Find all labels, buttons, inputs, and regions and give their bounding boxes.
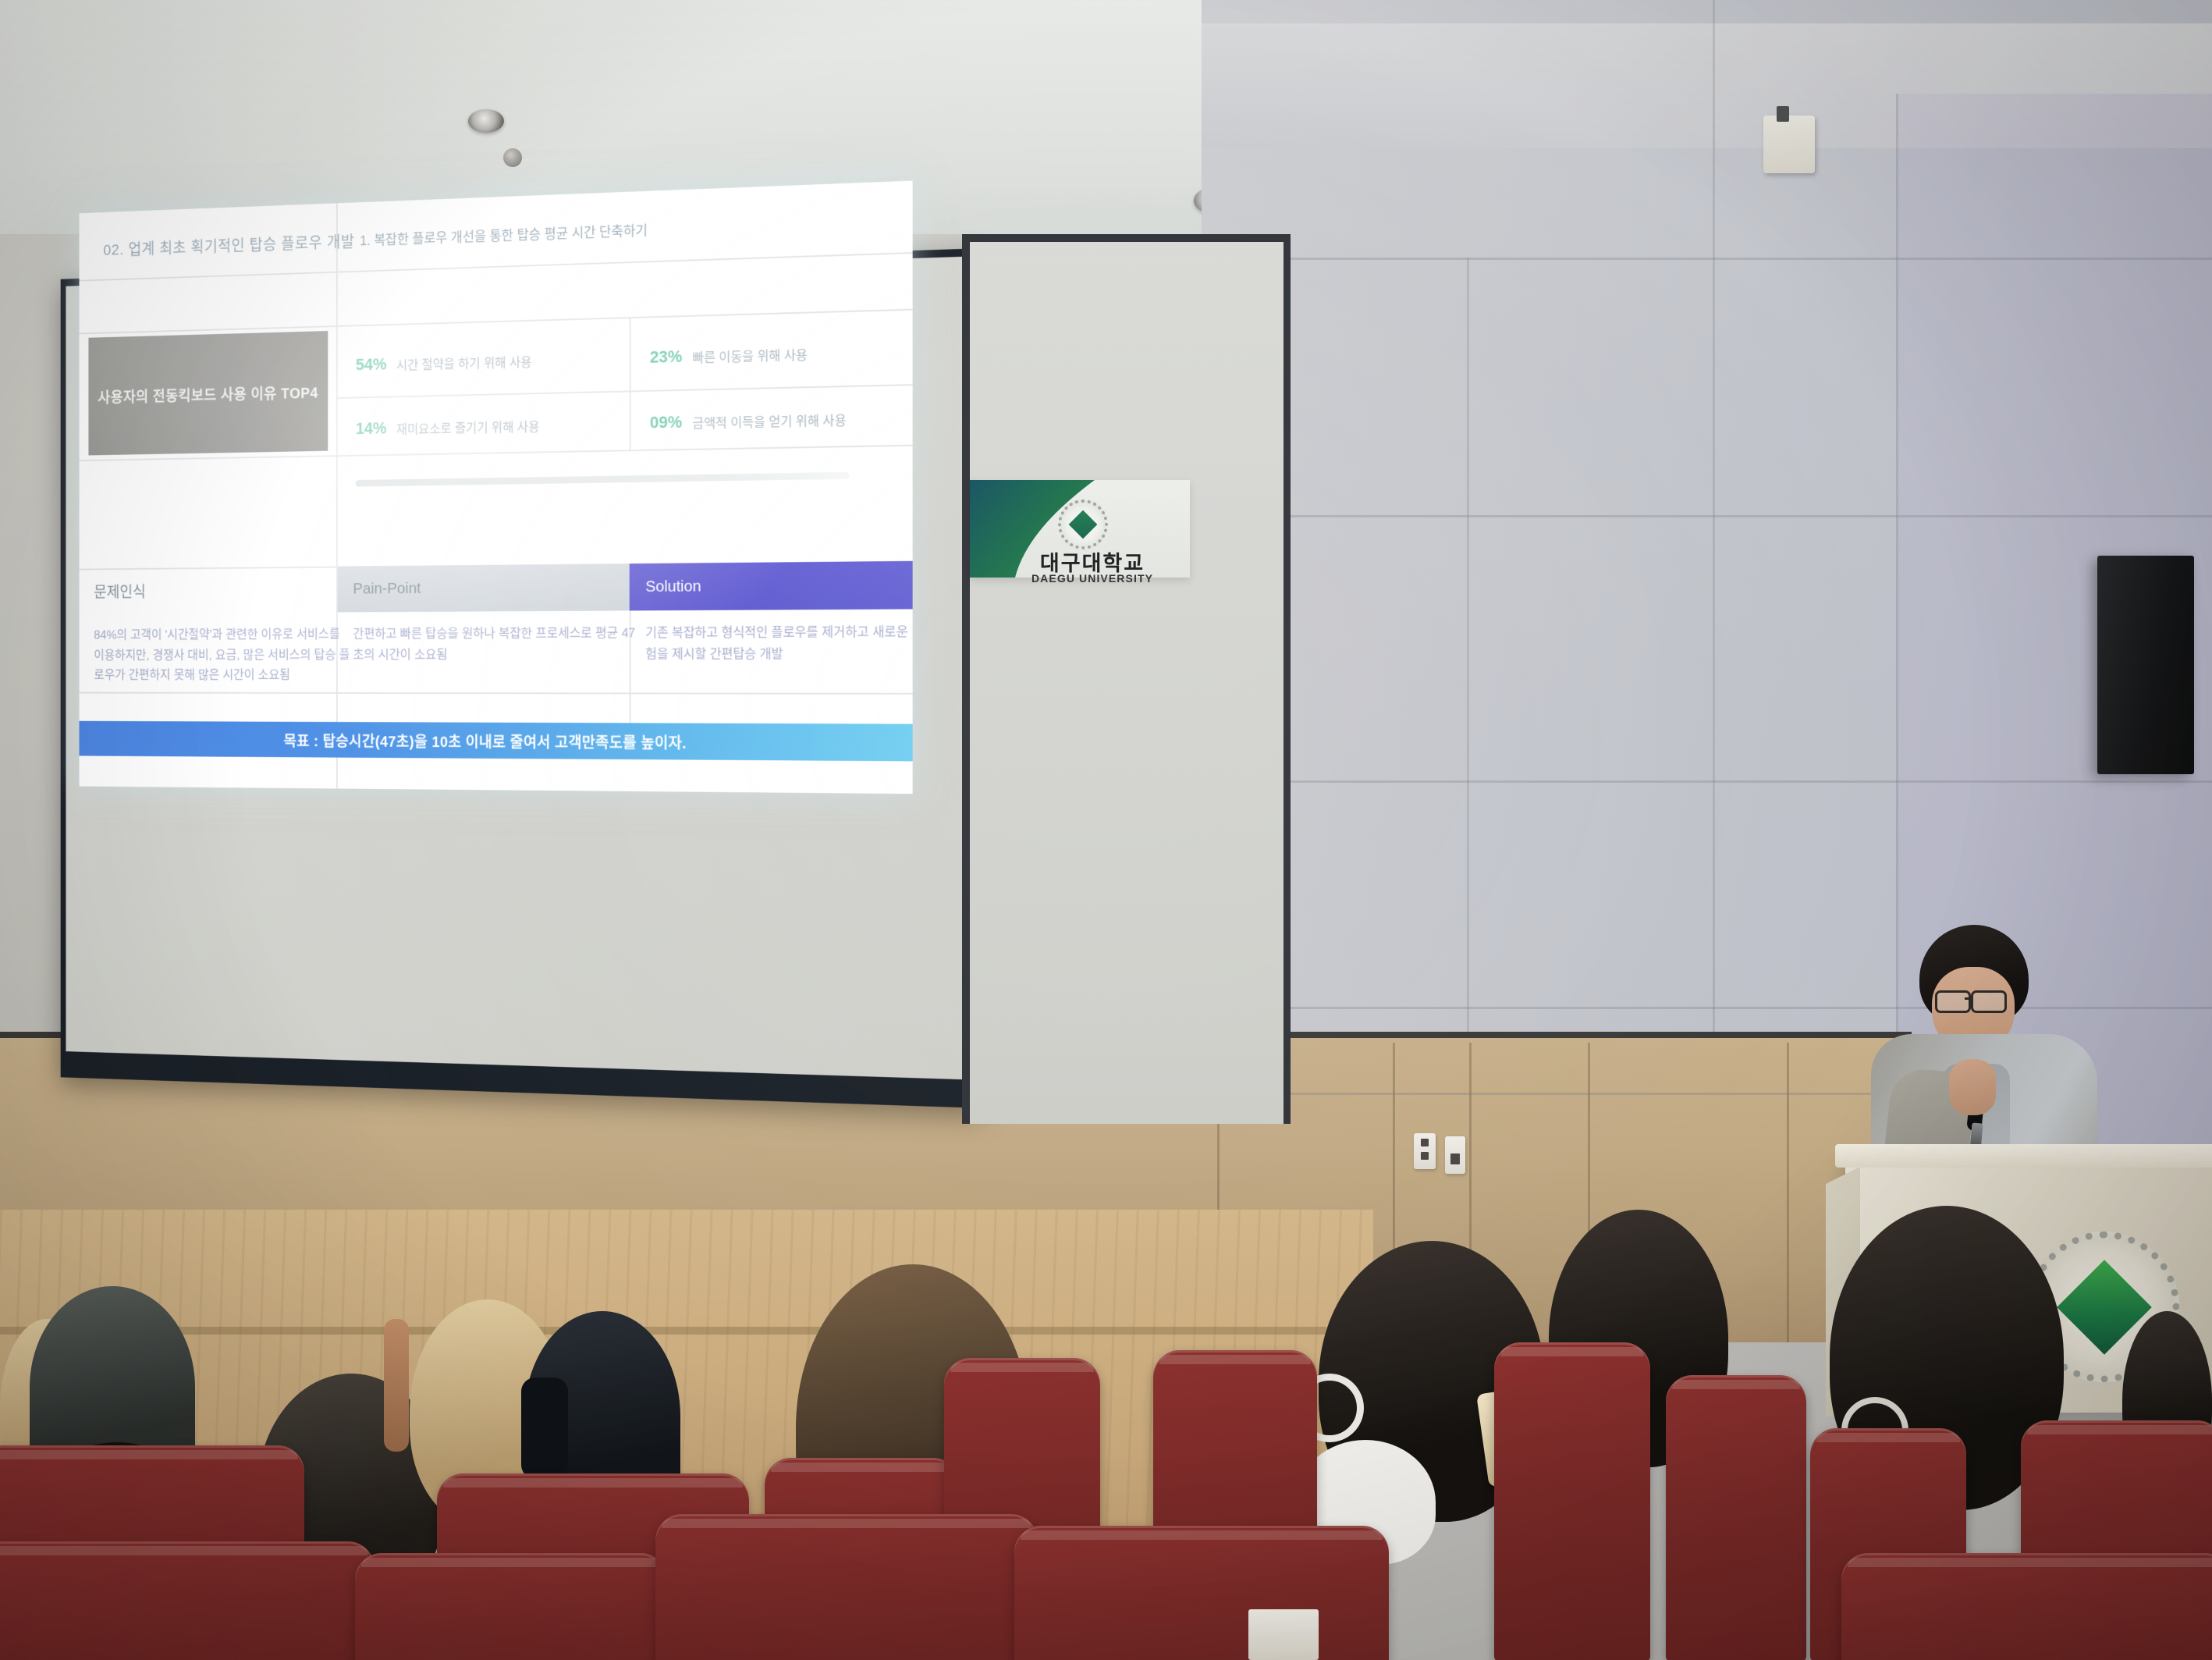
- column-header-painpoint: Pain-Point: [338, 563, 644, 612]
- goal-banner: 목표 : 탑승시간(47초)을 10초 이내로 줄여서 고객만족도를 높이자.: [80, 721, 913, 762]
- alcove-frame-top: [962, 234, 1290, 242]
- wall-seam: [1202, 780, 2212, 783]
- audience-hair-strand: [384, 1319, 409, 1452]
- alcove-frame-left: [962, 234, 970, 1124]
- stat-percent: 54%: [356, 354, 386, 375]
- column-body-solution: 기존 복잡하고 형식적인 플로우를 제거하고 새로운 경험을 제시할 간편탑승 …: [630, 610, 913, 664]
- wall-seam: [1202, 515, 2212, 517]
- screen-surface: 02. 업계 최초 획기적인 탑승 플로우 개발 1. 복잡한 플로우 개선을 …: [66, 257, 968, 1080]
- presentation-slide: 02. 업계 최초 획기적인 탑승 플로우 개발 1. 복잡한 플로우 개선을 …: [80, 181, 913, 794]
- auditorium-seat-front: [355, 1553, 667, 1660]
- stat-item: 54% 시간 절약을 하기 위해 사용: [356, 350, 532, 375]
- column-header-problem: 문제인식: [80, 566, 352, 613]
- power-outlet[interactable]: [1445, 1136, 1465, 1174]
- auditorium-seat: [1666, 1375, 1806, 1660]
- light-switch[interactable]: [1414, 1133, 1436, 1169]
- stat-text: 금액적 이득을 얻기 위해 사용: [692, 409, 846, 432]
- stat-item: 14% 재미요소로 즐기기 위해 사용: [356, 415, 540, 439]
- auditorium-photo: 02. 업계 최초 획기적인 탑승 플로우 개발 1. 복잡한 플로우 개선을 …: [0, 0, 2212, 1660]
- wall-speaker: [2097, 556, 2194, 774]
- sprinkler-icon: [503, 148, 522, 167]
- banner-name-english: DAEGU UNIVERSITY: [1014, 572, 1170, 585]
- slide-grid-line: [336, 203, 338, 788]
- wall-seam: [1713, 0, 1715, 1171]
- top4-label: 사용자의 전동킥보드 사용 이유 TOP4: [98, 380, 318, 407]
- auditorium-seat-front: [1841, 1553, 2212, 1660]
- wainscot-seam: [1787, 1043, 1789, 1342]
- stat-item: 23% 빠른 이동을 위해 사용: [650, 343, 808, 368]
- column-body-problem: 84%의 고객이 '시간절약'과 관련한 이유로 서비스를 이용하지만, 경쟁사…: [80, 613, 369, 685]
- slide-grid-line: [630, 317, 631, 450]
- stat-text: 재미요소로 즐기기 위해 사용: [396, 416, 540, 438]
- wall-plate-bracket: [1777, 106, 1789, 122]
- stat-text: 시간 절약을 하기 위해 사용: [396, 351, 532, 373]
- slide-grid-line: [80, 692, 913, 695]
- emblem-diamond-icon: [1069, 510, 1098, 539]
- banner-alcove: [970, 242, 1284, 1124]
- presenter-hand: [1949, 1059, 1996, 1115]
- stat-percent: 09%: [650, 412, 682, 432]
- column-header-solution: Solution: [630, 561, 913, 611]
- top4-callout-box: 사용자의 전동킥보드 사용 이유 TOP4: [88, 331, 328, 455]
- stat-item: 09% 금액적 이득을 얻기 위해 사용: [650, 409, 847, 433]
- wall-seam: [1202, 258, 2212, 260]
- slide-subsection-title: 1. 복잡한 플로우 개선을 통한 탑승 평균 시간 단축하기: [360, 220, 648, 250]
- audience-cap-brim: [521, 1377, 568, 1479]
- university-emblem-icon: [1058, 499, 1108, 549]
- podium-top-surface: [1835, 1144, 2212, 1168]
- auditorium-seat-front: [1014, 1526, 1389, 1660]
- goal-banner-text: 목표 : 탑승시간(47초)을 10초 이내로 줄여서 고객만족도를 높이자.: [284, 729, 687, 752]
- slide-section-title: 02. 업계 최초 획기적인 탑승 플로우 개발: [103, 229, 354, 261]
- stat-percent: 14%: [356, 418, 386, 439]
- downlight-icon: [468, 109, 504, 133]
- glasses-bridge-icon: [1965, 997, 1972, 1000]
- wainscot-seam: [1202, 1093, 1912, 1095]
- source-footnote: [356, 472, 849, 487]
- slide-grid-line: [80, 309, 913, 335]
- slide-grid-line: [336, 384, 913, 399]
- stat-text: 빠른 이동을 위해 사용: [692, 343, 808, 365]
- wall-mounted-plate: [1763, 116, 1815, 173]
- paper-sheet: [1248, 1609, 1319, 1660]
- glasses-icon: [1971, 990, 2007, 1013]
- auditorium-seat: [1494, 1342, 1650, 1660]
- column-body-painpoint: 간편하고 빠른 탑승을 원하나 복잡한 프로세스로 평균 47초의 시간이 소요…: [338, 612, 662, 665]
- auditorium-seat-front: [0, 1541, 375, 1660]
- auditorium-seat-front: [655, 1514, 1038, 1660]
- glasses-icon: [1935, 990, 1971, 1013]
- projector-screen: 02. 업계 최초 획기적인 탑승 플로우 개발 1. 복잡한 플로우 개선을 …: [61, 248, 983, 1108]
- stat-percent: 23%: [650, 347, 682, 367]
- stage-edge: [0, 1327, 1326, 1335]
- alcove-frame-right: [1284, 234, 1291, 1124]
